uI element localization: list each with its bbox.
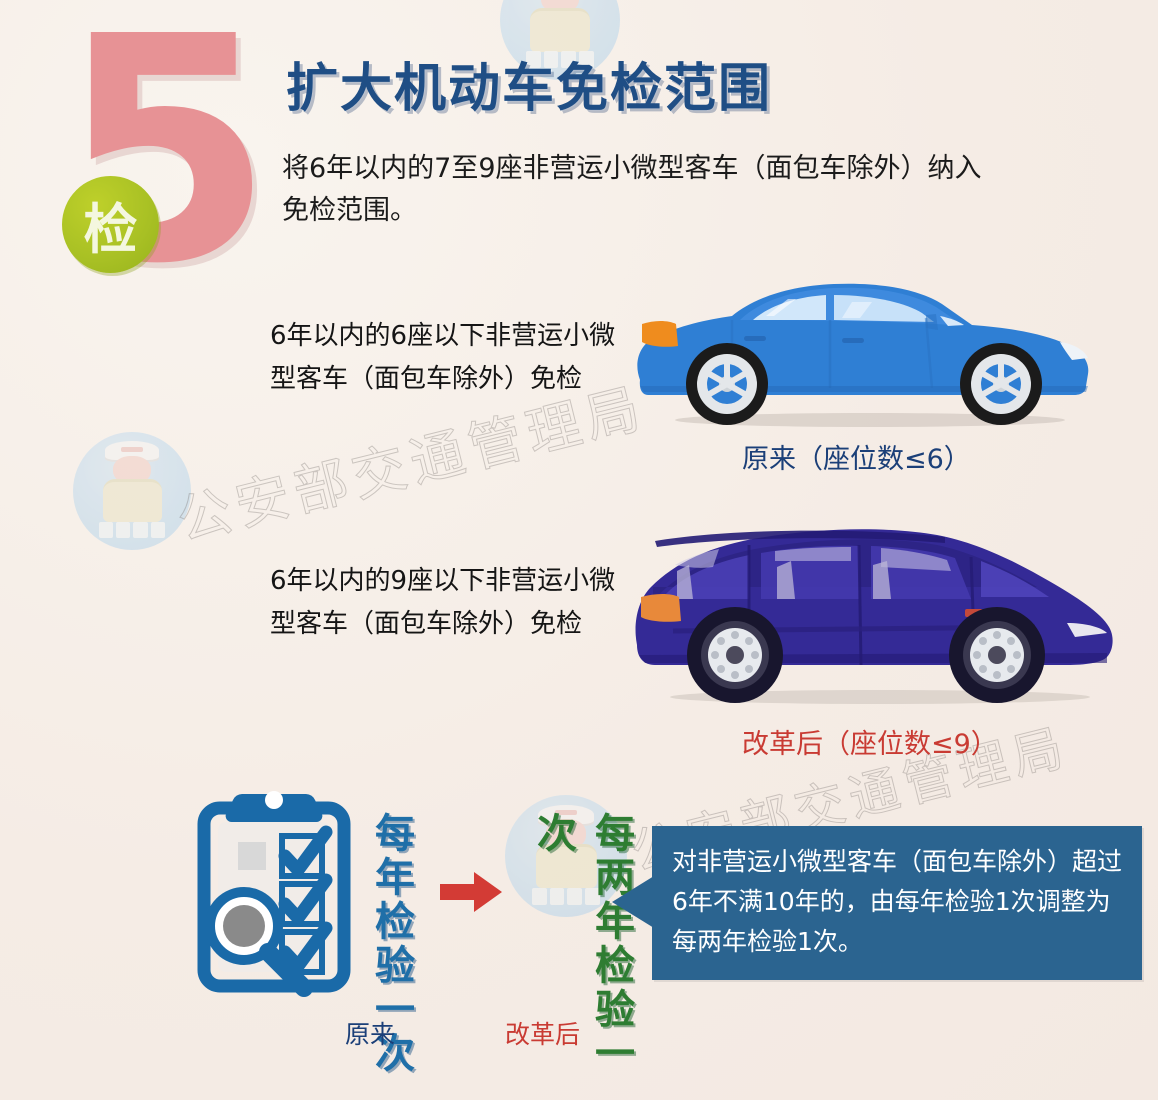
comparison-paragraph-new: 6年以内的9座以下非营运小微型客车（面包车除外）免检 xyxy=(270,560,630,646)
inspection-new-frequency: 每两年检验一次 xyxy=(524,812,640,1100)
label-after: 改革后 xyxy=(505,1015,580,1051)
inspection-note-box: 对非营运小微型客车（面包车除外）超过6年不满10年的，由每年检验1次调整为每两年… xyxy=(652,826,1142,980)
dark-blue-minivan-illustration xyxy=(615,505,1130,710)
blue-sedan-illustration xyxy=(620,268,1100,433)
right-arrow-icon xyxy=(440,870,502,914)
clipboard-checklist-icon xyxy=(186,786,368,1002)
intro-text: 将6年以内的7至9座非营运小微型客车（面包车除外）纳入免检范围。 xyxy=(282,148,982,232)
police-officer-badge-watermark xyxy=(73,432,191,550)
comparison-paragraph-old: 6年以内的6座以下非营运小微型客车（面包车除外）免检 xyxy=(270,315,630,401)
caption-old-seats: 原来（座位数≤6） xyxy=(742,437,971,476)
infobox-pointer xyxy=(612,876,654,928)
label-before: 原来 xyxy=(345,1015,395,1051)
inspection-badge: 检 xyxy=(62,176,159,273)
caption-new-seats: 改革后（座位数≤9） xyxy=(742,722,998,761)
page-title: 扩大机动车免检范围 xyxy=(286,46,772,121)
infographic-root: 公安部交通管理局 公安部交通管理局 5 检 扩大机动车免检范围 将6年以内的7至… xyxy=(0,0,1158,1100)
